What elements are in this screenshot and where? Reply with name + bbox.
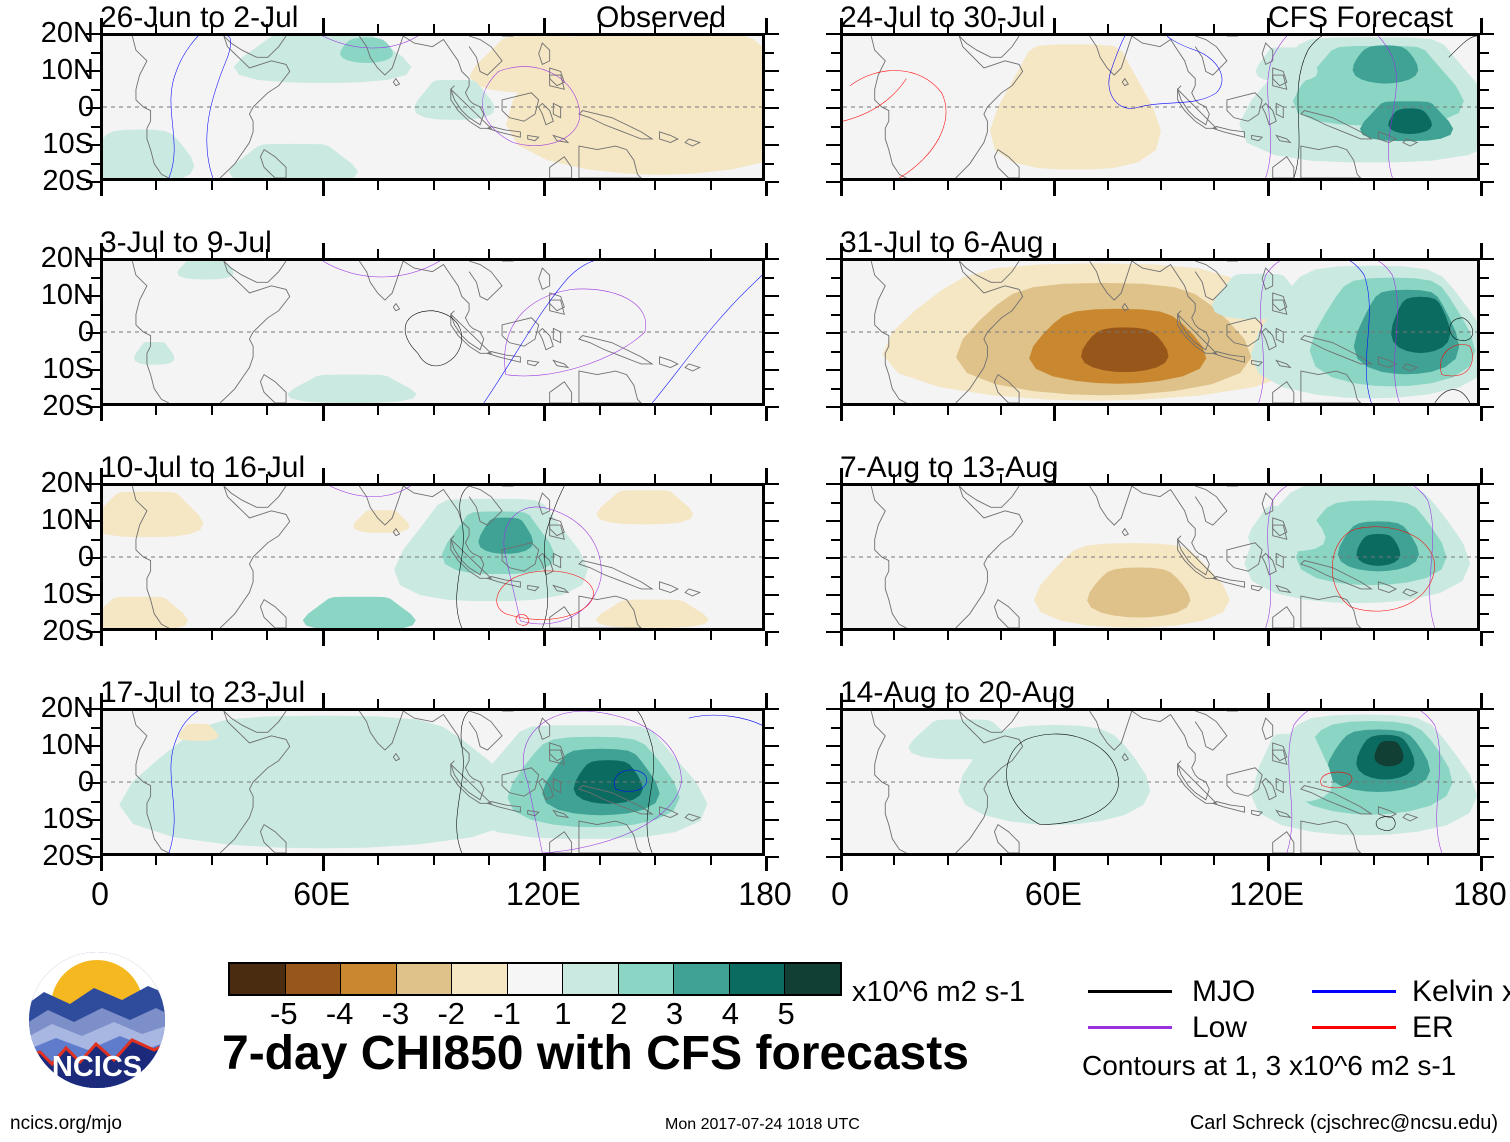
y-tick (86, 295, 100, 297)
map-field (843, 486, 1477, 628)
x-tick (710, 181, 712, 190)
x-tick (654, 699, 656, 708)
y-tick (765, 838, 774, 840)
colorbar-band-0 (230, 964, 286, 994)
y-tick (91, 613, 100, 615)
y-tick (1480, 708, 1494, 710)
x-tick (155, 406, 157, 415)
x-tick (1373, 24, 1375, 33)
y-tick (826, 295, 840, 297)
shaded-region (103, 597, 188, 628)
x-tick (1373, 474, 1375, 483)
y-tick-label: 10S (8, 805, 94, 834)
x-tick (266, 181, 268, 190)
y-tick (765, 295, 779, 297)
y-tick (765, 277, 774, 279)
x-tick (710, 699, 712, 708)
shaded-region (287, 375, 416, 403)
x-tick (1373, 406, 1375, 415)
map-field (103, 711, 762, 853)
x-tick (377, 24, 379, 33)
x-tick (599, 406, 601, 415)
y-tick (1480, 89, 1489, 91)
x-tick (765, 468, 768, 483)
y-tick (765, 314, 774, 316)
y-tick (1480, 369, 1494, 371)
x-tick (266, 249, 268, 258)
chart-title: 7-day CHI850 with CFS forecasts (222, 1030, 969, 1078)
panel-title: 10-Jul to 16-Jul (100, 453, 305, 483)
column-label-observed: Observed (596, 3, 726, 33)
x-tick (1427, 474, 1429, 483)
x-tick (1160, 856, 1162, 865)
y-tick (1480, 801, 1489, 803)
panel-title: 7-Aug to 13-Aug (840, 453, 1058, 483)
x-tick (433, 406, 435, 415)
contour-line (850, 71, 946, 178)
x-tick (433, 181, 435, 190)
y-tick (826, 144, 840, 146)
x-tick-label: 0 (831, 878, 849, 910)
x-tick (1160, 406, 1162, 415)
x-tick (947, 856, 949, 865)
y-tick (86, 745, 100, 747)
y-tick (826, 819, 840, 821)
x-tick (488, 249, 490, 258)
x-tick (1213, 249, 1215, 258)
x-tick (155, 249, 157, 258)
x-tick (654, 856, 656, 865)
x-tick (654, 474, 656, 483)
footer-url: ncics.org/mjo (10, 1114, 122, 1133)
y-tick (91, 52, 100, 54)
x-tick (211, 24, 213, 33)
y-tick (826, 181, 840, 183)
x-tick (100, 181, 103, 196)
x-tick (433, 24, 435, 33)
y-tick-label: 20N (8, 19, 94, 48)
y-tick (826, 258, 840, 260)
x-tick (1427, 631, 1429, 640)
x-tick (488, 699, 490, 708)
x-tick (1213, 699, 1215, 708)
x-tick (1000, 406, 1002, 415)
x-tick (765, 856, 768, 871)
y-tick (91, 576, 100, 578)
y-tick (831, 314, 840, 316)
colorbar-tick-label: 5 (778, 998, 795, 1029)
x-tick (1320, 406, 1322, 415)
x-tick (1480, 631, 1483, 646)
y-tick (765, 613, 774, 615)
map-panel (100, 258, 765, 406)
y-tick (86, 332, 100, 334)
x-tick (266, 24, 268, 33)
x-tick (599, 474, 601, 483)
y-tick (831, 539, 840, 541)
panel-title: 31-Jul to 6-Aug (840, 228, 1043, 258)
x-tick (1213, 181, 1215, 190)
x-tick (710, 631, 712, 640)
x-tick (1000, 856, 1002, 865)
x-tick (1000, 24, 1002, 33)
colorbar-band-8 (674, 964, 730, 994)
x-tick (488, 24, 490, 33)
y-tick (765, 708, 779, 710)
y-tick (765, 801, 774, 803)
y-tick-label: 10S (8, 580, 94, 609)
x-tick (322, 18, 325, 33)
y-tick (826, 70, 840, 72)
x-tick (840, 181, 843, 196)
y-tick (91, 277, 100, 279)
x-tick (1160, 474, 1162, 483)
x-tick (377, 474, 379, 483)
y-tick (86, 594, 100, 596)
colorbar-tick-label: -5 (270, 998, 298, 1029)
x-tick (377, 699, 379, 708)
x-tick (840, 468, 843, 483)
colorbar-band-2 (341, 964, 397, 994)
y-tick-label: 0 (8, 543, 94, 572)
y-tick (826, 33, 840, 35)
y-tick (91, 314, 100, 316)
shaded-region (103, 130, 194, 178)
y-tick-label: 0 (8, 768, 94, 797)
y-tick-label: 20S (8, 167, 94, 196)
y-tick (831, 838, 840, 840)
x-tick (1320, 856, 1322, 865)
legend-label-er: ER (1412, 1013, 1454, 1043)
y-tick-label: 10N (8, 281, 94, 310)
y-tick (765, 144, 779, 146)
y-tick (1480, 388, 1489, 390)
logo-text: NCICS (52, 1051, 142, 1083)
map-panel (100, 33, 765, 181)
x-tick (654, 631, 656, 640)
x-tick (1000, 181, 1002, 190)
y-tick (91, 89, 100, 91)
legend-label-mjo: MJO (1192, 977, 1255, 1007)
x-tick (893, 699, 895, 708)
y-tick-label: 10S (8, 130, 94, 159)
x-tick (1107, 249, 1109, 258)
y-tick (765, 483, 779, 485)
y-tick (765, 258, 779, 260)
map-field (103, 36, 762, 178)
y-tick (765, 33, 779, 35)
x-tick (1213, 474, 1215, 483)
x-tick (765, 18, 768, 33)
y-tick (831, 764, 840, 766)
y-tick (831, 613, 840, 615)
x-tick (599, 631, 601, 640)
x-tick (1320, 631, 1322, 640)
shaded-region (596, 600, 709, 628)
x-tick (1000, 249, 1002, 258)
y-tick (1480, 594, 1494, 596)
x-tick (543, 856, 546, 871)
y-tick (86, 631, 100, 633)
x-tick (543, 693, 546, 708)
y-tick (86, 708, 100, 710)
x-tick (1267, 18, 1270, 33)
x-tick (1373, 631, 1375, 640)
x-tick (322, 181, 325, 196)
x-tick (1480, 468, 1483, 483)
y-tick (91, 539, 100, 541)
x-tick (100, 18, 103, 33)
x-tick (1267, 181, 1270, 196)
y-tick (765, 89, 774, 91)
y-tick (91, 838, 100, 840)
shaded-region (596, 490, 693, 524)
x-tick (1480, 693, 1483, 708)
x-tick (100, 631, 103, 646)
x-tick (893, 181, 895, 190)
contour-line (405, 311, 462, 366)
x-tick (155, 699, 157, 708)
colorbar-band-10 (785, 964, 840, 994)
y-tick (765, 782, 779, 784)
x-tick (893, 24, 895, 33)
x-tick (1160, 249, 1162, 258)
y-tick (86, 258, 100, 260)
x-tick (765, 631, 768, 646)
x-tick (1320, 24, 1322, 33)
x-tick (893, 249, 895, 258)
y-tick (765, 557, 779, 559)
colorbar-band-7 (619, 964, 675, 994)
x-tick (488, 856, 490, 865)
x-tick (1053, 243, 1056, 258)
y-tick-label: 10N (8, 56, 94, 85)
y-tick (91, 351, 100, 353)
y-tick (826, 782, 840, 784)
x-tick (840, 856, 843, 871)
x-tick (211, 699, 213, 708)
x-tick (1053, 18, 1056, 33)
x-tick (840, 243, 843, 258)
y-tick (86, 520, 100, 522)
y-tick (831, 388, 840, 390)
mjo-line-swatch (1088, 990, 1172, 993)
x-tick (1053, 693, 1056, 708)
x-tick (710, 856, 712, 865)
x-tick (322, 693, 325, 708)
x-tick (1427, 856, 1429, 865)
x-tick (1213, 856, 1215, 865)
x-tick (710, 474, 712, 483)
colorbar-units: x10^6 m2 s-1 (852, 978, 1025, 1007)
x-tick (322, 856, 325, 871)
colorbar-band-3 (397, 964, 453, 994)
map-field (843, 36, 1477, 178)
x-tick (1053, 631, 1056, 646)
x-tick (1267, 406, 1270, 421)
x-tick (599, 24, 601, 33)
x-tick (947, 249, 949, 258)
x-tick-label: 120E (506, 878, 581, 910)
x-tick (1213, 631, 1215, 640)
x-tick (266, 474, 268, 483)
x-tick-label: 60E (293, 878, 350, 910)
x-tick (599, 856, 601, 865)
x-tick (654, 24, 656, 33)
x-tick (840, 406, 843, 421)
x-tick (322, 406, 325, 421)
x-tick (488, 474, 490, 483)
x-tick (488, 631, 490, 640)
x-tick (266, 699, 268, 708)
x-tick (1427, 24, 1429, 33)
x-tick (1267, 243, 1270, 258)
panel-title: 14-Aug to 20-Aug (840, 678, 1075, 708)
contour-line (689, 715, 762, 725)
x-tick (377, 249, 379, 258)
y-tick (826, 369, 840, 371)
legend-label-kelvin: Kelvin x2 (1412, 977, 1510, 1007)
footer-timestamp: Mon 2017-07-24 1018 UTC (665, 1117, 860, 1133)
x-tick (377, 631, 379, 640)
y-tick (826, 594, 840, 596)
x-tick (1107, 631, 1109, 640)
x-tick (1107, 181, 1109, 190)
map-field (103, 261, 762, 403)
x-tick (1053, 181, 1056, 196)
shaded-region (908, 720, 1017, 760)
x-tick (840, 631, 843, 646)
x-tick (1427, 406, 1429, 415)
contour-line (652, 275, 762, 403)
y-tick (765, 332, 779, 334)
x-tick (710, 24, 712, 33)
y-tick (86, 33, 100, 35)
x-tick (211, 856, 213, 865)
y-tick (1480, 314, 1489, 316)
colorbar-band-6 (563, 964, 619, 994)
map-panel (100, 483, 765, 631)
y-tick (826, 708, 840, 710)
x-tick (893, 474, 895, 483)
shaded-region (177, 261, 234, 279)
x-tick (1107, 24, 1109, 33)
x-tick (1427, 181, 1429, 190)
y-tick (1480, 258, 1494, 260)
x-tick (1320, 181, 1322, 190)
x-tick (1267, 631, 1270, 646)
column-label-forecast: CFS Forecast (1268, 3, 1453, 33)
y-tick (831, 351, 840, 353)
y-tick (765, 745, 779, 747)
colorbar-tick-label: 2 (610, 998, 627, 1029)
y-tick (1480, 764, 1489, 766)
x-tick-label: 0 (91, 878, 109, 910)
contour-line (1139, 36, 1222, 107)
y-tick (1480, 576, 1489, 578)
colorbar-tick-label: 4 (722, 998, 739, 1029)
x-tick (765, 693, 768, 708)
x-tick (1160, 24, 1162, 33)
x-tick (1213, 24, 1215, 33)
x-tick (1320, 699, 1322, 708)
x-tick (1107, 406, 1109, 415)
x-tick (266, 631, 268, 640)
x-tick (1107, 699, 1109, 708)
panel-title: 26-Jun to 2-Jul (100, 3, 298, 33)
ncics-logo: NCICS (22, 948, 172, 1098)
x-tick (947, 474, 949, 483)
x-tick (947, 406, 949, 415)
colorbar-tick-label: -2 (437, 998, 465, 1029)
shaded-region (229, 144, 358, 178)
panel-title: 24-Jul to 30-Jul (840, 3, 1045, 33)
y-tick (86, 483, 100, 485)
y-tick (1480, 838, 1489, 840)
y-tick-label: 20S (8, 392, 94, 421)
y-tick (1480, 819, 1494, 821)
colorbar-tick-label: 3 (666, 998, 683, 1029)
x-tick (1107, 474, 1109, 483)
y-tick (826, 856, 840, 858)
x-tick (1213, 406, 1215, 415)
colorbar-band-1 (286, 964, 342, 994)
x-tick (100, 468, 103, 483)
x-tick (710, 249, 712, 258)
x-tick (377, 856, 379, 865)
y-tick (91, 502, 100, 504)
y-tick (765, 351, 774, 353)
x-tick (543, 631, 546, 646)
y-tick (91, 388, 100, 390)
y-tick (765, 107, 779, 109)
legend-label-low: Low (1192, 1013, 1247, 1043)
x-tick (1000, 631, 1002, 640)
y-tick (831, 277, 840, 279)
x-tick (100, 243, 103, 258)
colorbar-tick-label: -1 (493, 998, 521, 1029)
y-tick (831, 502, 840, 504)
shaded-region (303, 597, 416, 628)
x-tick (322, 243, 325, 258)
y-tick (86, 856, 100, 858)
y-tick (1480, 144, 1494, 146)
x-tick-label: 60E (1025, 878, 1082, 910)
x-tick (1000, 474, 1002, 483)
contour-note: Contours at 1, 3 x10^6 m2 s-1 (1082, 1052, 1456, 1080)
x-tick (1373, 181, 1375, 190)
y-tick-label: 10N (8, 731, 94, 760)
x-tick (1480, 181, 1483, 196)
y-tick (86, 819, 100, 821)
x-tick (322, 631, 325, 646)
map-panel (840, 708, 1480, 856)
x-tick (543, 468, 546, 483)
y-tick (765, 163, 774, 165)
x-tick (1160, 699, 1162, 708)
x-tick (211, 631, 213, 640)
colorbar-band-5 (508, 964, 564, 994)
x-tick (1373, 249, 1375, 258)
panel-title: 3-Jul to 9-Jul (100, 228, 272, 258)
x-tick (893, 406, 895, 415)
x-tick (211, 474, 213, 483)
y-tick (91, 727, 100, 729)
x-tick (377, 181, 379, 190)
x-tick (947, 24, 949, 33)
x-tick (1267, 693, 1270, 708)
x-tick (1107, 856, 1109, 865)
